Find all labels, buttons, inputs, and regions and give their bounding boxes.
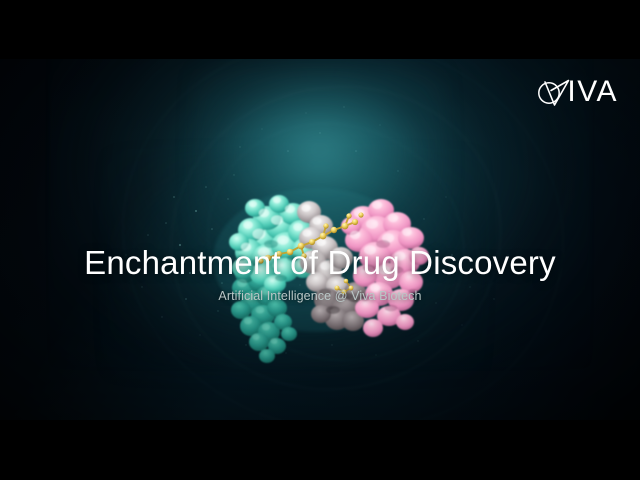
- viva-wordmark: IVA: [567, 77, 618, 107]
- viva-brand-logo[interactable]: IVA: [532, 72, 618, 112]
- letterbox-bar-bottom: [0, 420, 640, 480]
- video-subtitle: Artificial Intelligence @ Viva Biotech: [0, 289, 640, 303]
- viva-circle-v-monogram-icon: [532, 72, 572, 112]
- video-player-stage: IVA Enchantment of Drug Discovery Artifi…: [0, 0, 640, 480]
- video-main-title: Enchantment of Drug Discovery: [0, 245, 640, 281]
- letterbox-bar-top: [0, 0, 640, 59]
- video-frame: IVA Enchantment of Drug Discovery Artifi…: [0, 59, 640, 420]
- title-block: Enchantment of Drug Discovery Artificial…: [0, 245, 640, 303]
